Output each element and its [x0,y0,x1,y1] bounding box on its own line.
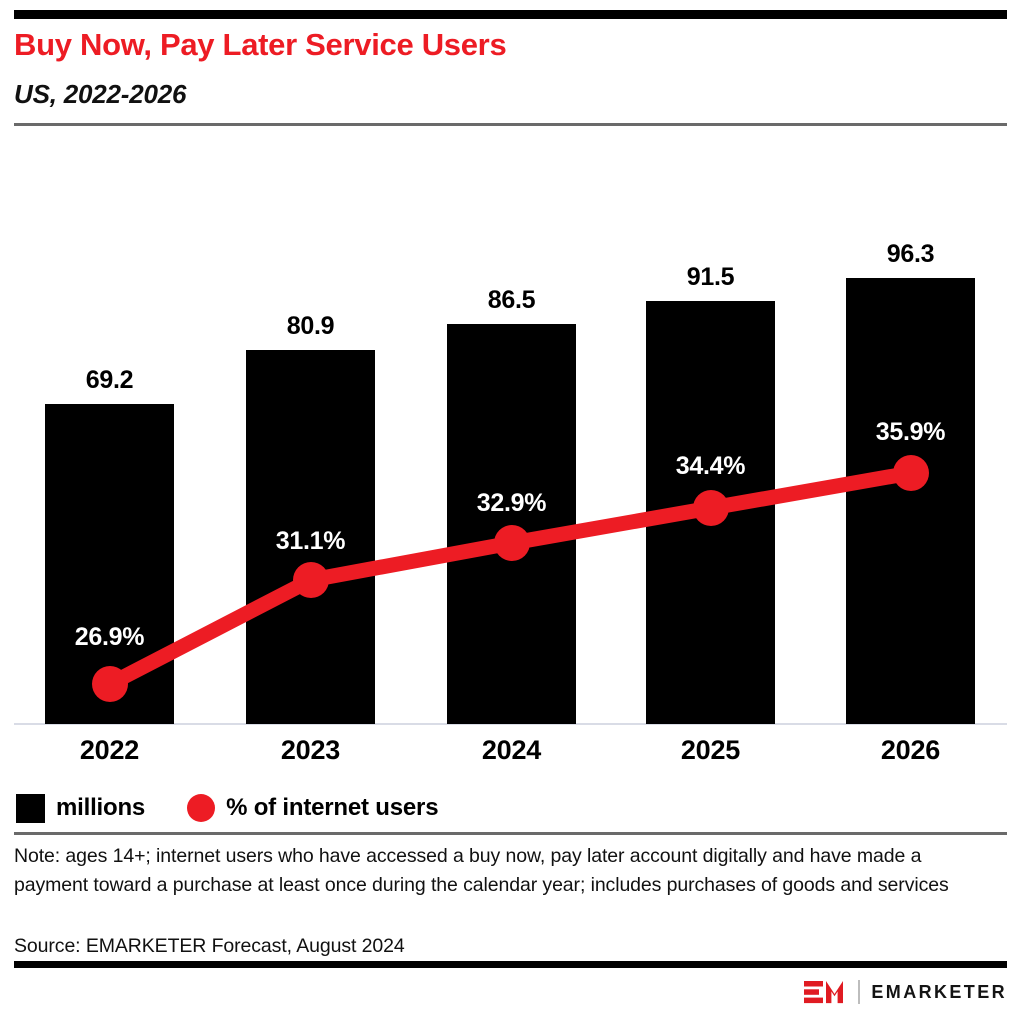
chart-page: Buy Now, Pay Later Service Users US, 202… [0,0,1020,1016]
x-tick-2023: 2023 [246,735,375,766]
bar-value-2025: 91.5 [646,263,775,291]
pct-label-2023: 31.1% [246,527,375,555]
legend-item-percent-internet-users[interactable]: % of internet users [187,794,438,822]
data-point-2026 [893,455,929,491]
data-point-2023 [293,562,329,598]
note-divider [14,832,1007,835]
bar-2026 [846,278,975,724]
source-text: Source: EMARKETER Forecast, August 2024 [14,932,999,961]
bar-2025 [646,301,775,724]
bar-2023 [246,350,375,724]
data-point-2022 [92,666,128,702]
chart-legend: millions % of internet users [16,791,480,825]
x-tick-2025: 2025 [646,735,775,766]
x-tick-2024: 2024 [447,735,576,766]
brand-name: EMARKETER [871,982,1007,1003]
bottom-rule [14,961,1007,968]
bar-2024 [447,324,576,724]
page-title: Buy Now, Pay Later Service Users [14,26,974,64]
legend-label-percent: % of internet users [226,794,438,822]
page-subtitle: US, 2022-2026 [14,78,974,110]
x-tick-2026: 2026 [846,735,975,766]
x-axis-line [14,723,1007,725]
x-tick-2022: 2022 [45,735,174,766]
pct-label-2026: 35.9% [846,418,975,446]
legend-item-millions[interactable]: millions [16,794,145,823]
note-text: Note: ages 14+; internet users who have … [14,842,999,900]
brand-footer: EMARKETER [804,978,1007,1006]
pct-label-2022: 26.9% [45,623,174,651]
header-divider [14,123,1007,126]
percent-line [110,473,911,684]
pct-label-2024: 32.9% [447,489,576,517]
bar-value-2024: 86.5 [447,286,576,314]
data-point-2024 [494,525,530,561]
bar-2022 [45,404,174,724]
bar-value-2026: 96.3 [846,240,975,268]
legend-circle-icon [187,794,215,822]
bar-value-2022: 69.2 [45,366,174,394]
legend-square-icon [16,794,45,823]
top-rule [14,10,1007,19]
brand-divider [858,980,860,1004]
bar-value-2023: 80.9 [246,312,375,340]
data-point-2025 [693,490,729,526]
legend-label-millions: millions [56,794,145,822]
emarketer-em-logo-icon [804,980,848,1004]
pct-label-2025: 34.4% [646,452,775,480]
